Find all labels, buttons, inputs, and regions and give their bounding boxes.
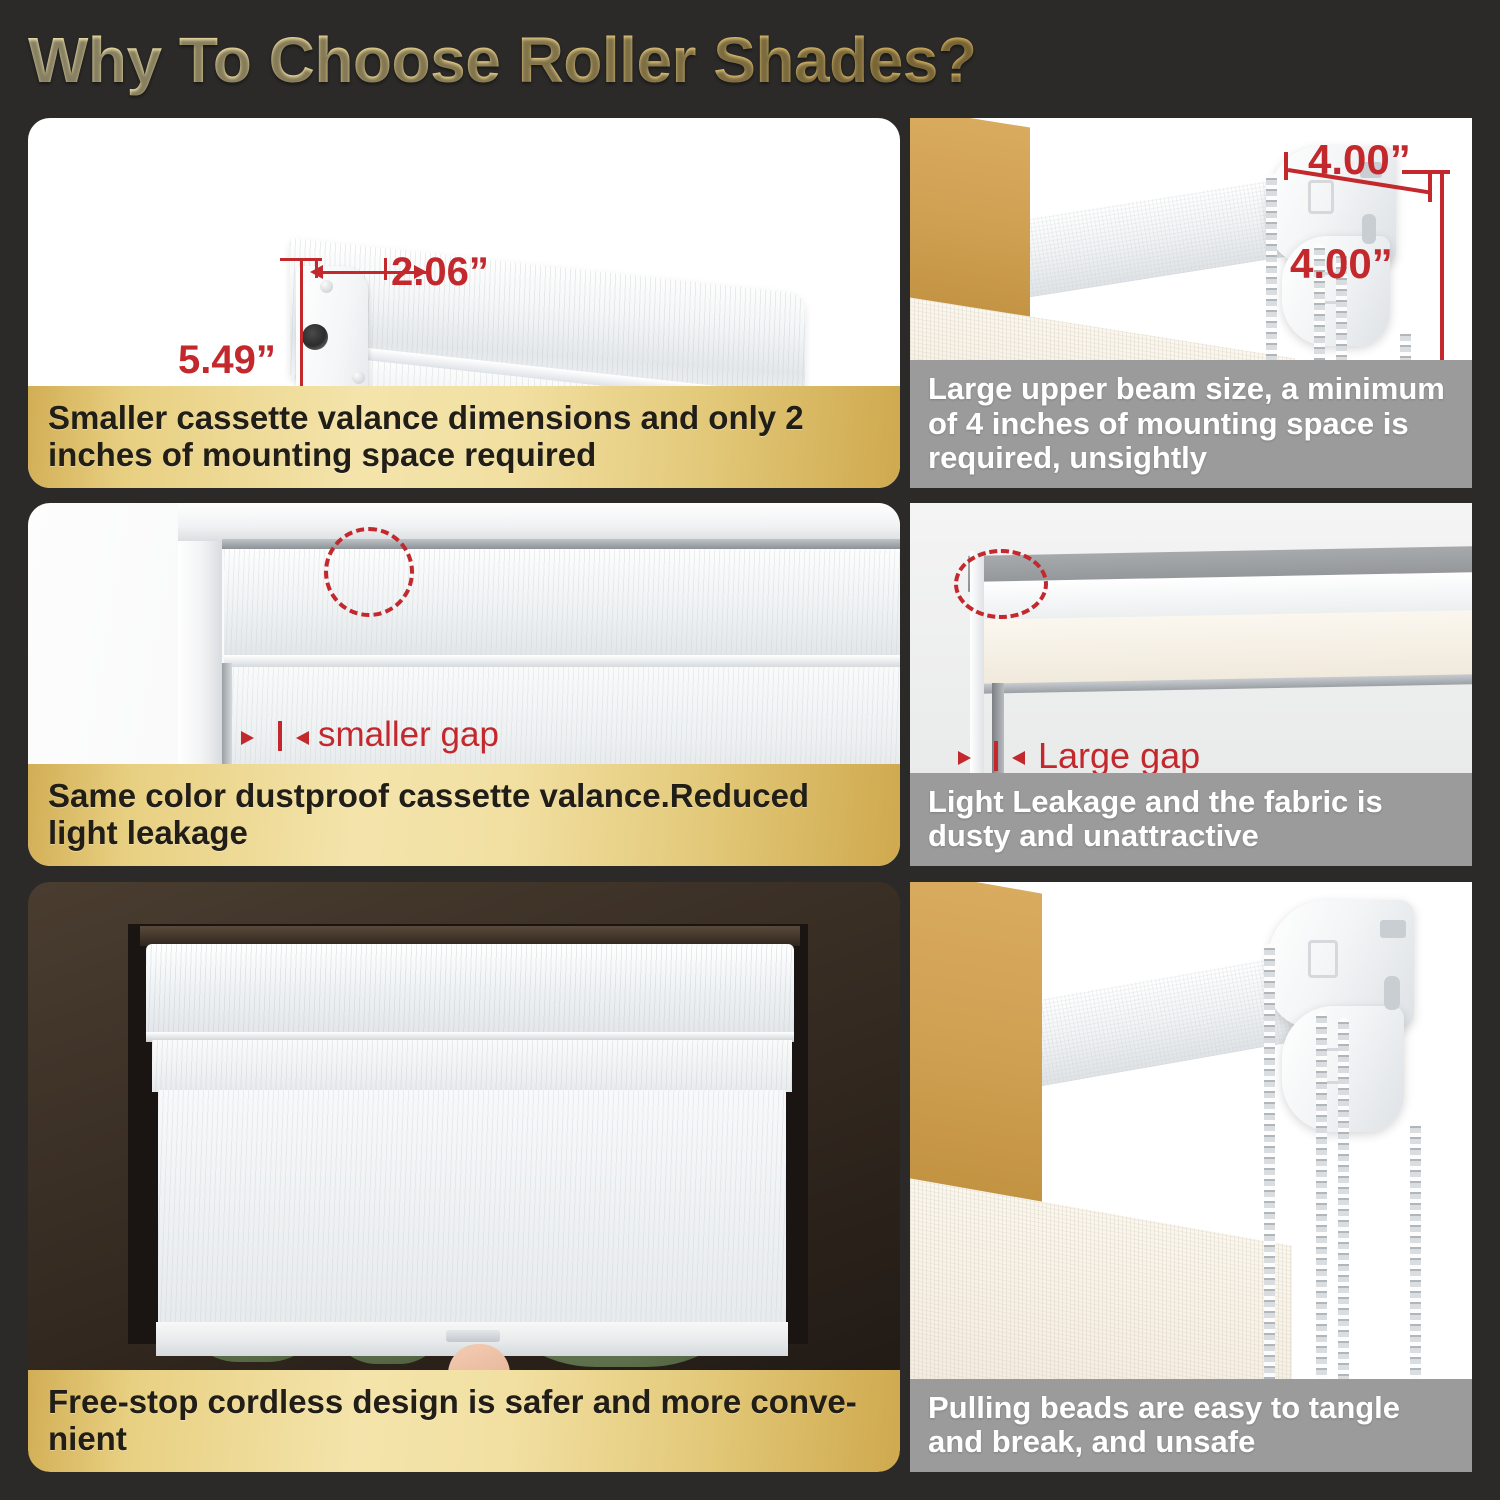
bead-chain-3[interactable] [1338,1018,1349,1424]
window-frame-top [178,503,900,541]
height-dim-tick-top [280,258,322,261]
bracket-screw-top [320,280,333,293]
gap-arrow-left [1012,751,1025,765]
window-frame-left [178,503,222,793]
bracket-screw-mid [352,371,365,384]
gap-arrow-right [958,751,971,765]
panel-5-cordless-design: Free-stop cordless design is safer and m… [28,882,900,1472]
panel-1-smaller-cassette: 2.06” 5.49” Smaller cassette valance dim… [28,118,900,488]
panel-3-dustproof-cassette: smaller gap Same color dustproof cassett… [28,503,900,866]
infographic-root: Why To Choose Roller Shades? 2.06” 5.49” [0,0,1500,1500]
beam-width-tick-left [1284,152,1288,180]
roller-tube [152,1040,792,1092]
panel-4-caption: Light Leakage and the fabric is dusty an… [910,773,1472,866]
large-gap-label: Large gap [1038,735,1200,777]
panel-6-caption: Pulling beads are easy to tangle and bre… [910,1379,1472,1472]
beam-height-tick-top [1402,170,1450,174]
panel-6-pulling-beads: Pulling beads are easy to tangle and bre… [910,882,1472,1472]
panel-3-caption: Same color dustproof cassette valance.Re… [28,764,900,866]
bead-chain-1[interactable] [1264,944,1275,1424]
bead-chain-2[interactable] [1316,1012,1327,1424]
gap-arrow-right [241,731,254,745]
cassette-top-edge [222,539,900,549]
beam-width-label: 4.00” [1308,136,1411,184]
panel-2-large-upper-beam: 4.00” 4.00” Large upper beam size, a min… [910,118,1472,488]
panel-5-caption: Free-stop cordless design is safer and m… [28,1370,900,1472]
bottom-bar-grip[interactable] [446,1330,500,1342]
panel-1-caption: Smaller cassette valance dimensions and … [28,386,900,488]
small-gap-highlight-circle [324,527,414,617]
width-dim-tick-left [315,258,318,278]
width-dim-tick-right [384,258,387,280]
bracket-emboss-1 [1308,180,1334,214]
valance-face [974,610,1472,686]
bracket-emboss-1 [1308,940,1338,978]
shade-fabric-panel [158,1090,786,1330]
window-header-trim [140,926,800,946]
bracket-slot-1 [1380,920,1406,938]
large-gap-highlight-circle [954,549,1048,619]
beam-height-label: 4.00” [1290,240,1393,288]
cassette-valance [146,944,794,1036]
gap-tick [994,741,998,771]
width-dimension-label: 2.06” [391,250,489,295]
bracket-slot-2 [1384,976,1400,1010]
page-title: Why To Choose Roller Shades? [28,20,1228,100]
beam-width-tick-right [1428,172,1432,202]
shade-backing-fabric [910,882,1042,1224]
beam-height-dim-line [1440,170,1444,374]
gap-arrow-left [296,731,309,745]
panel-4-light-leakage: Large gap Light Leakage and the fabric i… [910,503,1472,866]
panel-2-caption: Large upper beam size, a minimum of 4 in… [910,360,1472,488]
gap-tick [278,721,282,751]
smaller-gap-label: smaller gap [318,715,499,755]
height-dimension-label: 5.49” [178,338,276,383]
